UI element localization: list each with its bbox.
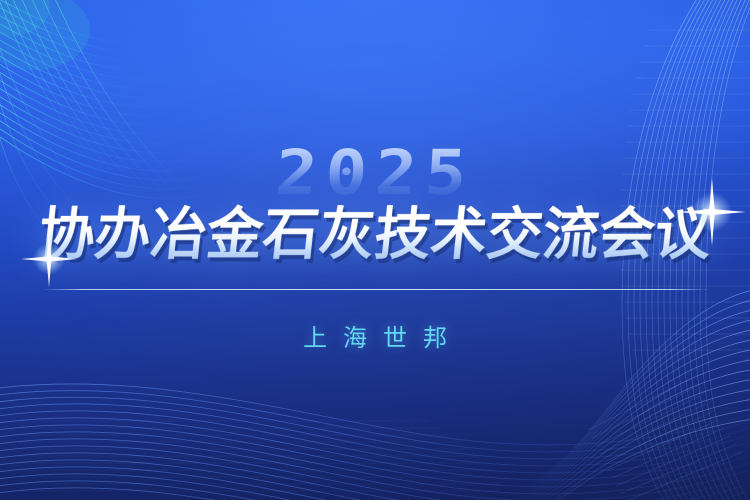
conference-banner: 2025 协办冶金石灰技术交流会议 上海世 [0,0,750,500]
year-watermark: 2025 [0,142,750,204]
page-title: 协办冶金石灰技术交流会议 [35,196,715,272]
divider-line [42,289,710,290]
title-container: 协办冶金石灰技术交流会议 [0,196,750,276]
subtitle: 上海世邦 [0,322,750,356]
